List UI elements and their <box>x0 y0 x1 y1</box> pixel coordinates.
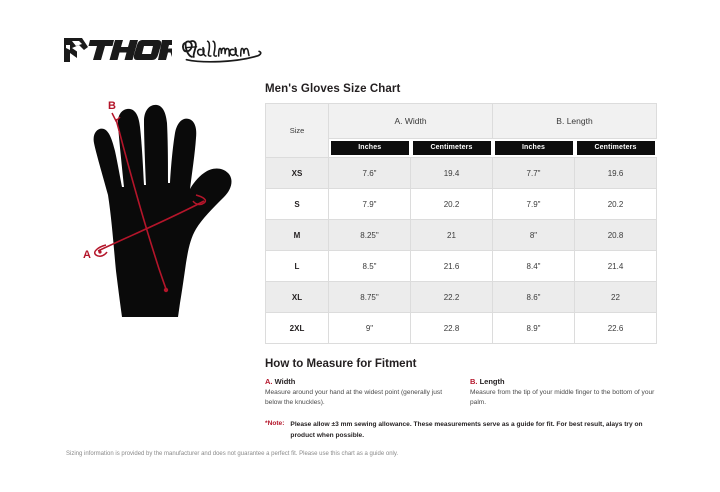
cell-width-inches: 7.9" <box>329 189 411 220</box>
diagram-label-b: B <box>108 100 116 112</box>
header-width-inches: Inches <box>331 141 409 155</box>
table-header: Size A. Width B. Length Inches Centimete… <box>266 104 657 158</box>
cell-size: XS <box>266 158 329 189</box>
table-row: S 7.9" 20.2 7.9" 20.2 <box>266 189 657 220</box>
note-label: *Note: <box>265 420 284 441</box>
header-group-length: B. Length <box>493 104 657 139</box>
cell-size: L <box>266 251 329 282</box>
cell-length-inches: 8" <box>493 220 575 251</box>
fitment-width-description: Measure around your hand at the widest p… <box>265 388 452 408</box>
cell-length-cm: 22.6 <box>575 313 657 344</box>
fitment-title: How to Measure for Fitment <box>265 358 657 370</box>
cell-length-cm: 19.6 <box>575 158 657 189</box>
note-block: *Note: Please allow ±3 mm sewing allowan… <box>265 420 657 441</box>
cell-length-inches: 8.4" <box>493 251 575 282</box>
fitment-item-width: A. Width Measure around your hand at the… <box>265 377 452 408</box>
thor-logo <box>62 33 172 67</box>
cell-size: XL <box>266 282 329 313</box>
fitment-item-length: B. Length Measure from the tip of your m… <box>470 377 657 408</box>
header-width-centimeters-cell: Centimeters <box>411 139 493 158</box>
table-row: M 8.25" 21 8" 20.8 <box>266 220 657 251</box>
fitment-length-heading: B. Length <box>470 377 657 386</box>
cell-width-inches: 8.75" <box>329 282 411 313</box>
fitment-width-heading: A. Width <box>265 377 452 386</box>
fitment-width-name: Width <box>275 377 296 386</box>
hallman-script-logo <box>180 34 272 66</box>
cell-length-inches: 7.7" <box>493 158 575 189</box>
cell-width-inches: 9" <box>329 313 411 344</box>
fitment-length-description: Measure from the tip of your middle fing… <box>470 388 657 408</box>
fitment-width-tag: A. <box>265 377 273 386</box>
page-title: Men's Gloves Size Chart <box>265 83 657 95</box>
cell-length-inches: 8.9" <box>493 313 575 344</box>
fitment-length-name: Length <box>480 377 505 386</box>
header-length-inches-cell: Inches <box>493 139 575 158</box>
header-group-width: A. Width <box>329 104 493 139</box>
header-size: Size <box>266 104 329 158</box>
cell-width-inches: 8.25" <box>329 220 411 251</box>
table-body: XS 7.6" 19.4 7.7" 19.6 S 7.9" 20.2 7.9" … <box>266 158 657 344</box>
cell-length-cm: 22 <box>575 282 657 313</box>
cell-length-inches: 7.9" <box>493 189 575 220</box>
header-length-inches: Inches <box>495 141 573 155</box>
header-length-centimeters: Centimeters <box>577 141 655 155</box>
fitment-columns: A. Width Measure around your hand at the… <box>265 377 657 408</box>
cell-width-cm: 21.6 <box>411 251 493 282</box>
cell-width-cm: 19.4 <box>411 158 493 189</box>
table-row: 2XL 9" 22.8 8.9" 22.6 <box>266 313 657 344</box>
table-row: XS 7.6" 19.4 7.7" 19.6 <box>266 158 657 189</box>
cell-width-inches: 7.6" <box>329 158 411 189</box>
hand-measurement-diagram: B A <box>62 95 262 325</box>
cell-size: 2XL <box>266 313 329 344</box>
cell-length-inches: 8.6" <box>493 282 575 313</box>
table-row: XL 8.75" 22.2 8.6" 22 <box>266 282 657 313</box>
diagram-label-a: A <box>83 249 91 261</box>
fitment-length-tag: B. <box>470 377 478 386</box>
cell-width-cm: 22.2 <box>411 282 493 313</box>
cell-length-cm: 20.2 <box>575 189 657 220</box>
table-row: L 8.5" 21.6 8.4" 21.4 <box>266 251 657 282</box>
cell-width-cm: 20.2 <box>411 189 493 220</box>
brand-bar <box>62 33 282 69</box>
cell-width-cm: 21 <box>411 220 493 251</box>
fitment-section: How to Measure for Fitment A. Width Meas… <box>265 358 657 442</box>
cell-width-inches: 8.5" <box>329 251 411 282</box>
cell-length-cm: 20.8 <box>575 220 657 251</box>
size-chart-table: Size A. Width B. Length Inches Centimete… <box>265 103 657 344</box>
header-width-centimeters: Centimeters <box>413 141 491 155</box>
note-text: Please allow ±3 mm sewing allowance. The… <box>290 420 657 441</box>
footer-disclaimer: Sizing information is provided by the ma… <box>66 449 406 460</box>
size-chart-panel: Men's Gloves Size Chart Size A. Width B.… <box>265 83 657 442</box>
header-width-inches-cell: Inches <box>329 139 411 158</box>
cell-width-cm: 22.8 <box>411 313 493 344</box>
cell-size: S <box>266 189 329 220</box>
cell-size: M <box>266 220 329 251</box>
header-length-centimeters-cell: Centimeters <box>575 139 657 158</box>
cell-length-cm: 21.4 <box>575 251 657 282</box>
